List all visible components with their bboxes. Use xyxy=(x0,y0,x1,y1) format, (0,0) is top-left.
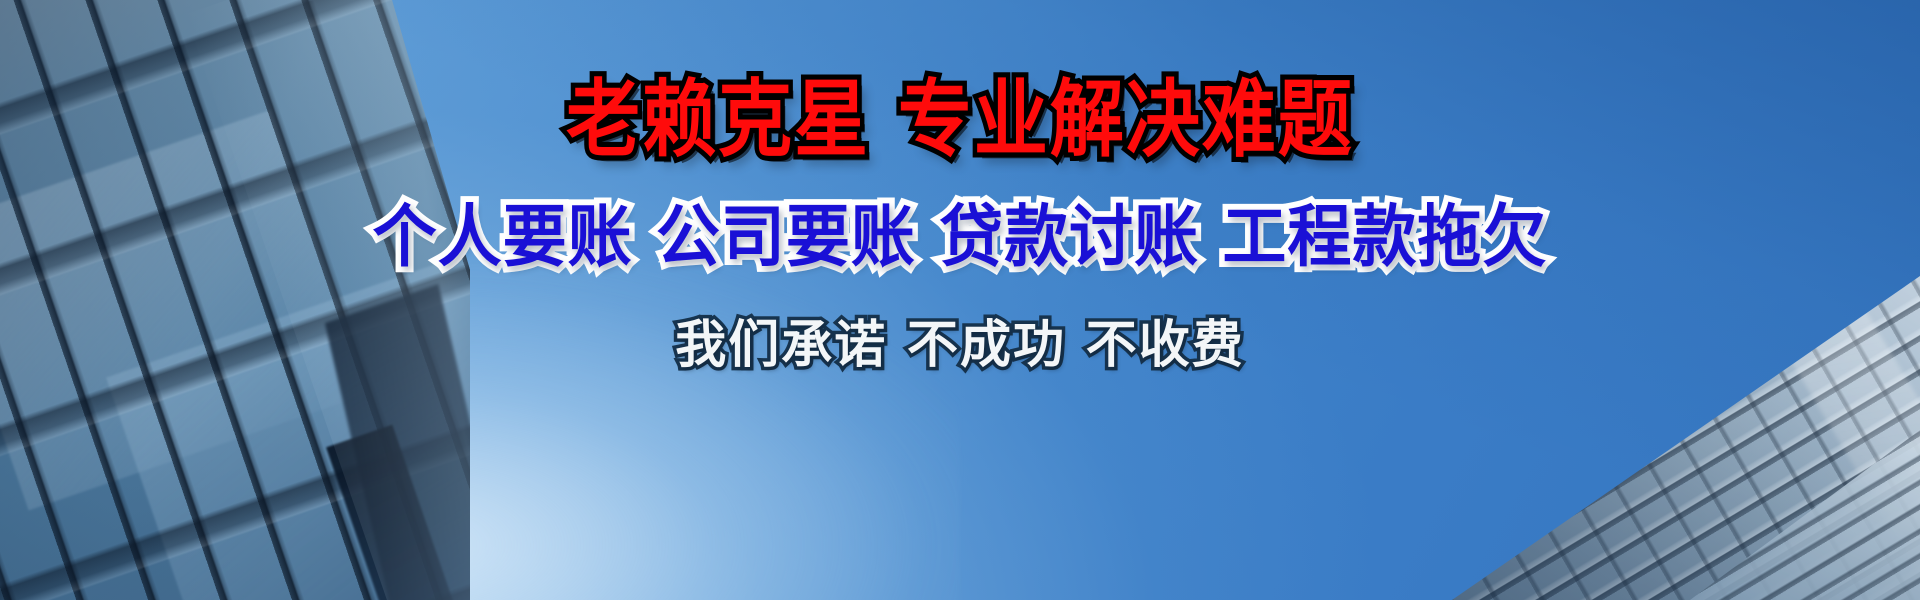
banner-text-block: 老赖克星 专业解决难题 个人要账 公司要账 贷款讨账 工程款拖欠 我们承诺 不成… xyxy=(0,0,1920,600)
banner-promise-tagline: 我们承诺 不成功 不收费 xyxy=(675,320,1245,371)
banner-services-line: 个人要账 公司要账 贷款讨账 工程款拖欠 xyxy=(373,204,1548,272)
promotional-banner: 老赖克星 专业解决难题 个人要账 公司要账 贷款讨账 工程款拖欠 我们承诺 不成… xyxy=(0,0,1920,600)
banner-headline: 老赖克星 专业解决难题 xyxy=(566,78,1354,162)
